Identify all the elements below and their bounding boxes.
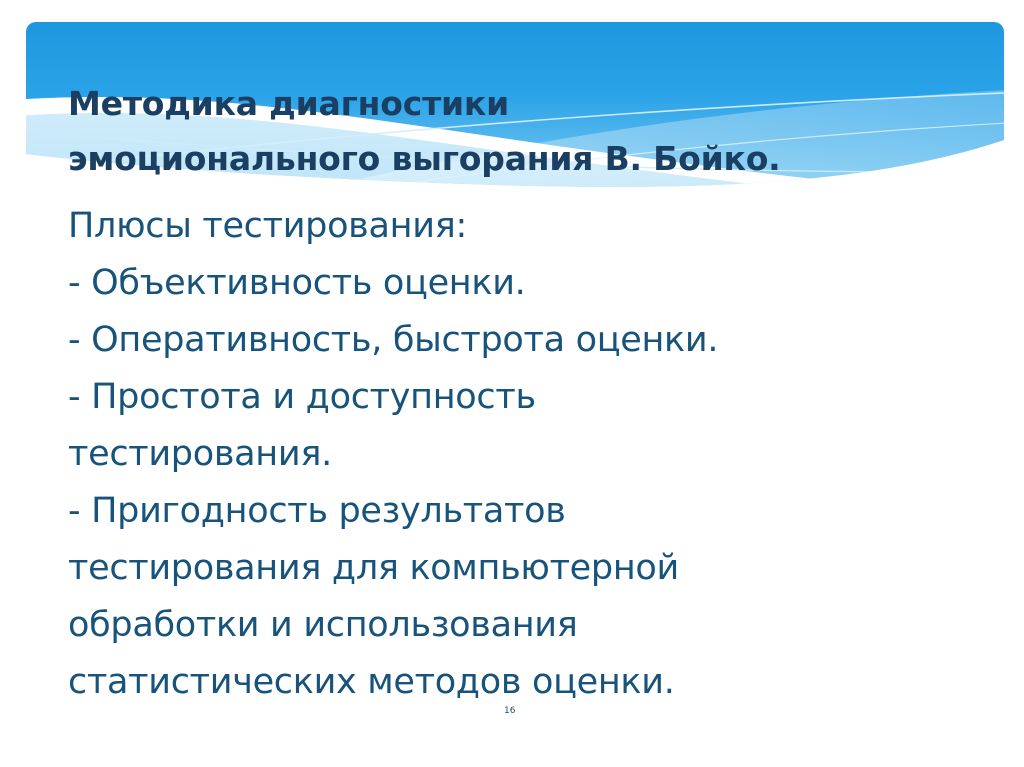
body-line-5: тестирования. xyxy=(68,426,998,483)
slide-page-number: 16 xyxy=(504,706,515,716)
body-line-4: - Простота и доступность xyxy=(68,369,998,426)
presentation-slide: Методика диагностики эмоционального выго… xyxy=(0,0,1024,767)
title-line-2: эмоционального выгорания В. Бойко. xyxy=(68,131,968,186)
title-line-1: Методика диагностики xyxy=(68,76,968,131)
body-line-2: - Объективность оценки. xyxy=(68,255,998,312)
slide-title: Методика диагностики эмоционального выго… xyxy=(68,76,968,186)
body-line-3: - Оперативность, быстрота оценки. xyxy=(68,312,998,369)
body-line-1: Плюсы тестирования: xyxy=(68,198,998,255)
body-line-6: - Пригодность результатов xyxy=(68,483,998,540)
body-line-7: тестирования для компьютерной xyxy=(68,540,998,597)
slide-body-text: Плюсы тестирования: - Объективность оцен… xyxy=(68,198,998,711)
body-line-8: обработки и использования xyxy=(68,597,998,654)
body-line-9: статистических методов оценки. xyxy=(68,654,998,711)
